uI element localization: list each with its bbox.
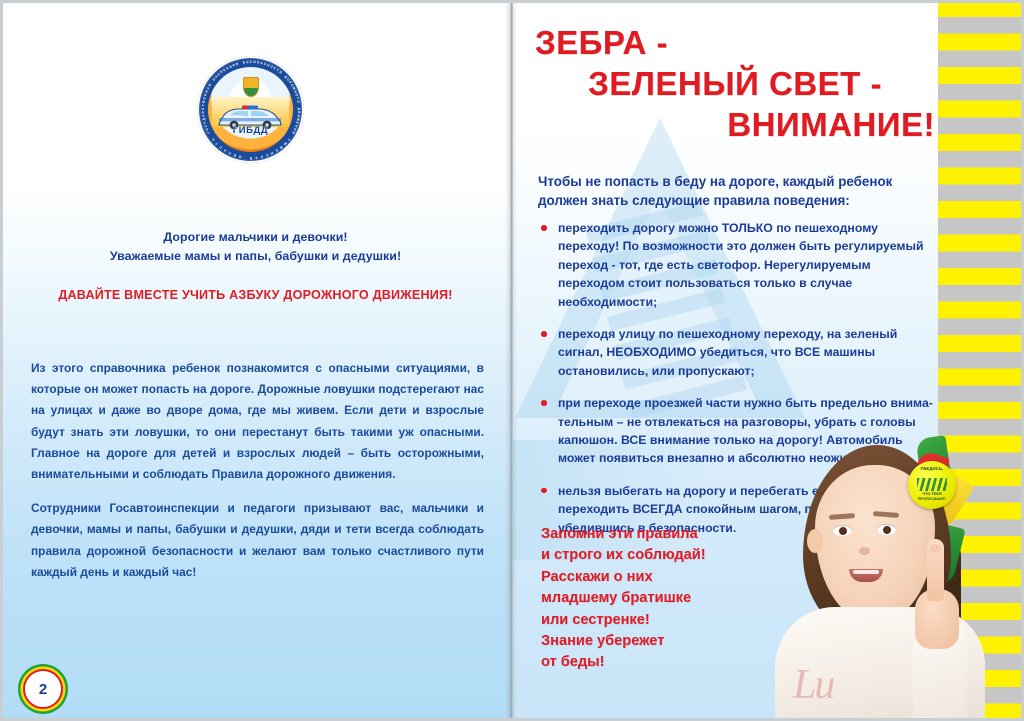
emblem-ring-letter: С — [203, 124, 208, 128]
emblem-ring-letter: О — [238, 154, 241, 158]
shield-icon — [243, 77, 259, 97]
emblem-ring-letter: Б — [242, 60, 245, 64]
brochure-spread: ГОСУДАРСТВЕННАЯ ИНСПЕКЦИЯ БЕЗОПАСНОСТИ Д… — [0, 0, 1024, 721]
emblem-ring-letter: Г — [295, 96, 299, 99]
emblem-ring-letter: Я — [235, 61, 238, 66]
girl-nose — [859, 547, 870, 555]
emblem-ring-letter: А — [201, 114, 205, 117]
gibdd-emblem: ГОСУДАРСТВЕННАЯ ИНСПЕКЦИЯ БЕЗОПАСНОСТИ Д… — [197, 56, 304, 163]
rule-item: переходить дорогу можно ТОЛЬКО по пешехо… — [539, 219, 939, 311]
photo-layers: Lu УБЕДИСЬ, ЧТО ТЕБЯ ПРОПУСКАЮТ! — [763, 421, 998, 721]
title-line-2: ЗЕЛЕНЫЙ СВЕТ - — [535, 63, 935, 104]
page-title: ЗЕБРА - ЗЕЛЕНЫЙ СВЕТ - ВНИМАНИЕ! — [535, 22, 935, 145]
lead-paragraph: Чтобы не попасть в беду на дороге, кажды… — [538, 173, 936, 210]
footer-red-line: Знание убережет — [541, 631, 771, 652]
title-line-3: ВНИМАНИЕ! — [535, 104, 935, 145]
emblem-ring-letter: Д — [201, 117, 205, 120]
sweater-script-text: Lu — [793, 661, 833, 709]
emblem-ring-letter: С — [218, 144, 222, 149]
emblem-ring-letter: О — [296, 100, 300, 103]
badge-crosswalk-icon — [917, 478, 947, 491]
emblem-ring-letter: Е — [246, 60, 248, 64]
girl-ear — [807, 529, 823, 553]
emblem-ring-letter: Я — [249, 156, 251, 160]
title-line-1: ЗЕБРА - — [535, 22, 935, 63]
left-page: ГОСУДАРСТВЕННАЯ ИНСПЕКЦИЯ БЕЗОПАСНОСТИ Д… — [0, 0, 511, 721]
rule-item: переходя улицу по пешеходному переходу, … — [539, 325, 939, 380]
emblem-ring-letter: И — [296, 114, 300, 117]
footer-red-line: или сестренке! — [541, 610, 771, 631]
emblem-ring-letter: Е — [202, 96, 206, 99]
bullet-dot-icon — [541, 331, 547, 337]
emblem-ring-letter: Ь — [210, 137, 215, 141]
badge-text-top: УБЕДИСЬ, — [908, 466, 956, 471]
greeting-line-1: Дорогие мальчики и девочки! — [0, 228, 511, 247]
emblem-ring-letter: И — [231, 62, 235, 67]
emblem-ring-letter: З — [249, 60, 251, 64]
greeting-line-2: Уважаемые мамы и папы, бабушки и дедушки… — [0, 247, 511, 266]
emblem-ring-letter: В — [296, 110, 300, 113]
girl-photo: Lu УБЕДИСЬ, ЧТО ТЕБЯ ПРОПУСКАЮТ! — [763, 421, 998, 721]
right-page: ЗЕБРА - ЗЕЛЕНЫЙ СВЕТ - ВНИМАНИЕ! Чтобы н… — [513, 0, 1024, 721]
footer-red-text: Запомни эти правилаи строго их соблюдай!… — [541, 524, 771, 674]
emblem-ring-letter: О — [253, 60, 256, 64]
rule-text: переходить дорогу можно ТОЛЬКО по пешехо… — [558, 221, 924, 309]
emblem-ring-letter: Д — [296, 107, 300, 109]
bullet-dot-icon — [541, 225, 547, 231]
sheet-edge-top — [0, 0, 1024, 3]
emblem-ring-letter: А — [255, 155, 258, 159]
emblem-ring-letter: Т — [201, 104, 205, 106]
footer-red-line: Расскажи о них — [541, 567, 771, 588]
left-body-text: Из этого справочника ребенок познакомитс… — [31, 358, 484, 583]
emblem-ring-letter: К — [260, 154, 263, 158]
safety-badge-pin: УБЕДИСЬ, ЧТО ТЕБЯ ПРОПУСКАЮТ! — [908, 461, 956, 509]
emblem-ring-letter: Т — [214, 141, 218, 145]
emblem-ring-letter: Р — [201, 111, 205, 113]
paragraph-2: Сотрудники Госавтоинспекции и педагоги п… — [31, 498, 484, 583]
emblem-ring-letter: М — [278, 144, 283, 149]
emblem-ring-letter: С — [265, 152, 269, 157]
emblem-ring-letter: Т — [286, 137, 290, 141]
girl-eye-left — [833, 525, 852, 536]
emblem-ring-letter: Б — [233, 152, 237, 157]
emblem-ring-letter: А — [259, 60, 262, 64]
emblem-ring-letter — [296, 104, 300, 105]
footer-red-line: Запомни эти правила — [541, 524, 771, 545]
emblem-ring-letter — [239, 61, 241, 65]
bullet-dot-icon — [541, 400, 547, 406]
rule-text: переходя улицу по пешеходному переходу, … — [558, 327, 897, 378]
emblem-ring-letter: Ю — [282, 141, 287, 146]
call-to-action-heading: ДАВАЙТЕ ВМЕСТЕ УЧИТЬ АЗБУКУ ДОРОЖНОГО ДВ… — [0, 288, 511, 302]
footer-red-line: младшему братишке — [541, 588, 771, 609]
girl-eye-right — [877, 524, 896, 535]
sheet-edge-left — [0, 0, 3, 721]
emblem-ring-letter: В — [201, 100, 205, 103]
footer-red-line: и строго их соблюдай! — [541, 545, 771, 566]
page-number-left: 2 — [23, 669, 63, 709]
emblem-ring-letter: А — [223, 148, 227, 153]
paragraph-1: Из этого справочника ребенок познакомитс… — [31, 358, 484, 485]
bullet-dot-icon — [541, 488, 547, 494]
badge-text-bottom: ЧТО ТЕБЯ ПРОПУСКАЮТ! — [908, 492, 956, 502]
left-headings: Дорогие мальчики и девочки! Уважаемые ма… — [0, 228, 511, 302]
emblem-ring-letter: Ж — [295, 117, 300, 121]
emblem-ring-letter: Л — [228, 150, 232, 155]
emblem-ring-letter: Е — [295, 121, 299, 124]
page-gutter-fold — [505, 0, 517, 721]
emblem-ring-letter: Н — [270, 150, 274, 155]
girl-pointing-finger — [927, 539, 944, 601]
emblem-center-word: ГИБДД — [208, 125, 293, 136]
emblem-ring-letter: П — [256, 60, 259, 64]
emblem-ring-letter: О — [294, 93, 299, 97]
footer-red-line: от беды! — [541, 652, 771, 673]
emblem-ring-letter — [244, 155, 245, 159]
emblem-ring-letter: С — [200, 107, 204, 109]
emblem-inner: ГИБДД — [208, 67, 293, 152]
emblem-ring-letter: У — [202, 121, 206, 124]
emblem-ring-letter: Е — [274, 148, 278, 153]
